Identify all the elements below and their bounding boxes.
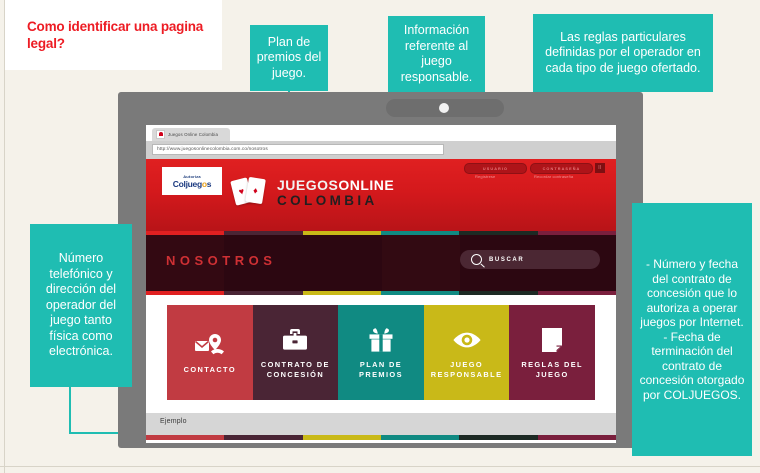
page-left-rule (4, 0, 5, 473)
page-bottom-rule (0, 466, 760, 467)
stripe-segment-4 (459, 435, 537, 440)
coljuegos-logo: Autoriza Coljuegos (162, 167, 222, 195)
stripe-segment-2 (303, 435, 381, 440)
site-header: Autoriza Coljuegos ♥ ♦ JUEGOSONLINE COLO… (146, 159, 616, 231)
tile-reglas[interactable]: REGLAS DEL JUEGO (509, 305, 595, 400)
briefcase-icon (283, 326, 307, 354)
tile-contrato-label: CONTRATO DE CONCESIÓN (255, 360, 337, 380)
recordar-contrasena-link[interactable]: Recordar contraseña (534, 174, 573, 179)
tile-juego-label: JUEGO RESPONSABLE (426, 360, 508, 380)
url-input[interactable]: http://www.juegosonlinecolombia.com.co/n… (152, 144, 444, 155)
page-title: Como identificar una pagina legal? (27, 18, 207, 52)
ejemplo-label: Ejemplo (160, 418, 187, 425)
registrese-link[interactable]: Regístrese (475, 174, 495, 179)
stripe-segment-2 (303, 291, 381, 295)
browser-toolbar: http://www.juegosonlinecolombia.com.co/n… (146, 141, 616, 159)
search-icon (471, 254, 482, 265)
tile-plan[interactable]: PLAN DE PREMIOS (338, 305, 424, 400)
stripe-segment-4 (459, 291, 537, 295)
tablet-device: Juegos Online Colombia http://www.juegos… (118, 92, 643, 448)
url-text: http://www.juegosonlinecolombia.com.co/n… (157, 147, 268, 152)
tile-juego[interactable]: JUEGO RESPONSABLE (424, 305, 510, 400)
stripe-segment-5 (538, 291, 616, 295)
tablet-camera-icon (439, 103, 449, 113)
callout-juego-responsable: Información referente al juego responsab… (388, 16, 485, 92)
login-submit-label: II (598, 165, 601, 171)
brand-online: ONLINE (338, 177, 394, 193)
callout-reglas-particulares-text: Las reglas particulares definidas por el… (539, 30, 707, 77)
stripe-segment-1 (224, 291, 302, 295)
stripe-segment-5 (538, 435, 616, 440)
callout-contrato-concesion-text: - Número y fecha del contrato de concesi… (638, 257, 746, 402)
search-placeholder: BUSCAR (489, 257, 524, 263)
stripe-segment-0 (146, 291, 224, 295)
callout-juego-responsable-text: Información referente al juego responsab… (394, 23, 479, 85)
browser-tab-title: Juegos Online Colombia (168, 132, 218, 137)
brand-juegos: JUEGOS (277, 177, 338, 193)
tile-reglas-label: REGLAS DEL JUEGO (511, 360, 593, 380)
document-icon (542, 326, 562, 354)
browser-tab[interactable]: Juegos Online Colombia (152, 128, 230, 141)
site-brand-line2: COLOMBIA (277, 193, 394, 208)
tile-contacto[interactable]: CONTACTO (167, 305, 253, 400)
section-title: NOSOTROS (166, 253, 276, 268)
tile-contrato[interactable]: CONTRATO DE CONCESIÓN (253, 305, 339, 400)
site-brand-line1: JUEGOSONLINE (277, 178, 394, 192)
tablet-screen: Juegos Online Colombia http://www.juegos… (146, 125, 616, 443)
login-submit-button[interactable]: II (595, 163, 605, 173)
title-card: Como identificar una pagina legal? (5, 0, 222, 70)
playing-cards-icon: ♥ ♦ (233, 176, 273, 206)
logo-coljuegos-label: Coljuegos (173, 179, 211, 189)
callout-numero-telefonico: Número telefónico y dirección del operad… (30, 224, 132, 387)
logo-coljuegos-b: s (207, 179, 211, 189)
callout-contrato-concesion: - Número y fecha del contrato de concesi… (632, 203, 752, 456)
band-shade-2 (382, 235, 460, 291)
band-color-stripe (146, 291, 616, 295)
footer-color-stripe (146, 435, 616, 440)
login-area: USUARIO CONTRASEÑA II Regístrese Recorda… (448, 163, 606, 185)
infographic-root: Como identificar una pagina legal? Juego… (0, 0, 760, 473)
contrasena-label: CONTRASEÑA (543, 167, 581, 171)
contrasena-input[interactable]: CONTRASEÑA (530, 163, 593, 174)
site-brand: JUEGOSONLINE COLOMBIA (277, 178, 394, 208)
tile-contacto-label: CONTACTO (184, 365, 236, 375)
stripe-segment-3 (381, 291, 459, 295)
favicon-icon (156, 130, 165, 139)
stripe-segment-0 (146, 435, 224, 440)
card-diamonds-icon: ♦ (245, 177, 266, 204)
callout-plan-premios-text: Plan de premios del juego. (256, 35, 322, 82)
connector-numero-v1 (69, 387, 71, 434)
callout-numero-telefonico-text: Número telefónico y dirección del operad… (36, 251, 126, 360)
usuario-input[interactable]: USUARIO (464, 163, 527, 174)
usuario-label: USUARIO (483, 167, 508, 171)
search-input[interactable]: BUSCAR (460, 250, 600, 269)
section-band: NOSOTROS BUSCAR (146, 235, 616, 291)
gift-icon (369, 326, 393, 354)
tile-row: CONTACTOCONTRATO DE CONCESIÓNPLAN DE PRE… (167, 305, 595, 400)
stripe-segment-3 (381, 435, 459, 440)
callout-plan-premios: Plan de premios del juego. (250, 25, 328, 91)
mail-pin-phone-icon (195, 331, 225, 359)
tile-plan-label: PLAN DE PREMIOS (340, 360, 422, 380)
callout-reglas-particulares: Las reglas particulares definidas por el… (533, 14, 713, 92)
eye-icon (452, 326, 482, 354)
site-footer: Ejemplo (146, 413, 616, 435)
stripe-segment-1 (224, 435, 302, 440)
logo-coljuegos-a: Coljueg (173, 179, 202, 189)
